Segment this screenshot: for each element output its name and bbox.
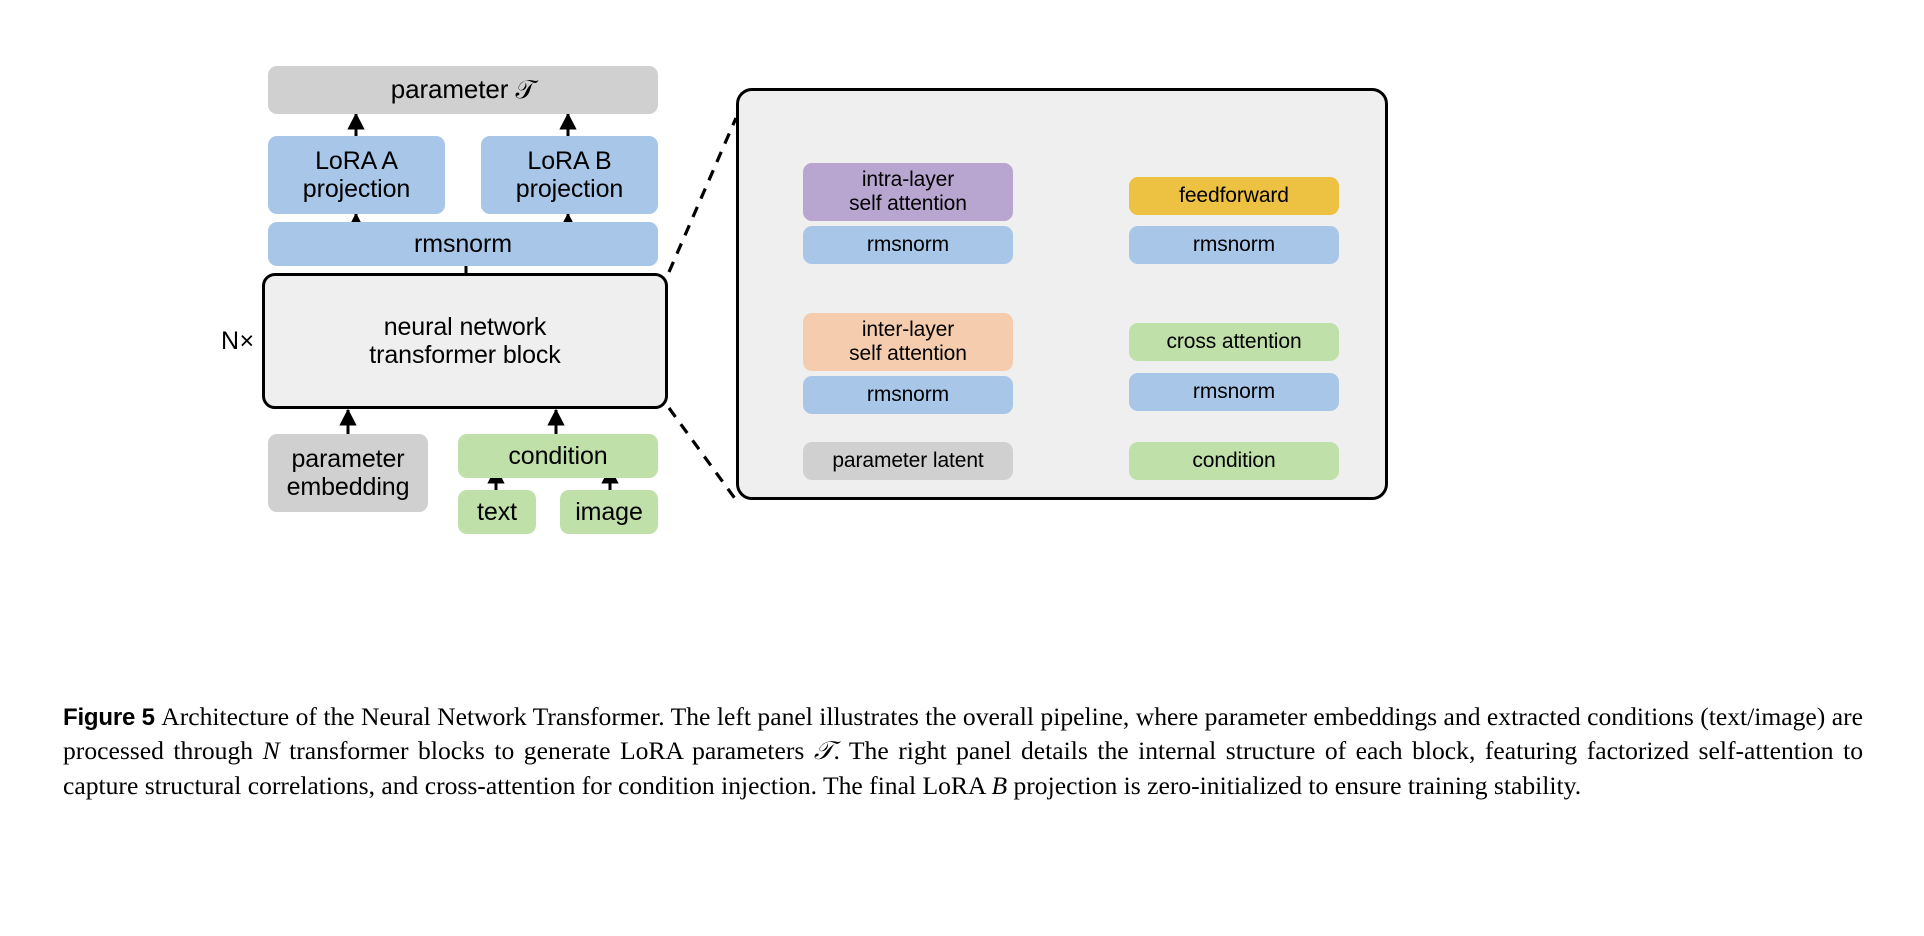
figure-root: parameter 𝒯 LoRA A projection LoRA B pro…: [0, 0, 1924, 936]
label-n-times: N×: [221, 327, 255, 356]
box-rmsnorm-cross: rmsnorm: [1129, 373, 1339, 411]
box-parameter-embedding: parameter embedding: [268, 434, 428, 512]
box-lora-b-projection: LoRA B projection: [481, 136, 658, 214]
box-condition-left: condition: [458, 434, 658, 478]
box-image: image: [560, 490, 658, 534]
box-rmsnorm-intra: rmsnorm: [803, 226, 1013, 264]
box-rmsnorm-top: rmsnorm: [268, 222, 658, 266]
box-lora-a-projection: LoRA A projection: [268, 136, 445, 214]
figure-caption-label: Figure 5: [63, 704, 155, 731]
detail-panel-container: [736, 88, 1388, 500]
box-neural-network-transformer-block: neural network transformer block: [262, 273, 668, 409]
box-text: text: [458, 490, 536, 534]
figure-caption: Figure 5 Architecture of the Neural Netw…: [63, 700, 1863, 803]
figure-caption-body: Architecture of the Neural Network Trans…: [63, 702, 1863, 800]
box-parameter-output: parameter 𝒯: [268, 66, 658, 114]
box-rmsnorm-inter: rmsnorm: [803, 376, 1013, 414]
box-parameter-latent: parameter latent: [803, 442, 1013, 480]
box-intra-layer-self-attention: intra-layer self attention: [803, 163, 1013, 221]
box-rmsnorm-feedforward: rmsnorm: [1129, 226, 1339, 264]
box-inter-layer-self-attention: inter-layer self attention: [803, 313, 1013, 371]
box-feedforward: feedforward: [1129, 177, 1339, 215]
box-condition-right: condition: [1129, 442, 1339, 480]
box-cross-attention: cross attention: [1129, 323, 1339, 361]
